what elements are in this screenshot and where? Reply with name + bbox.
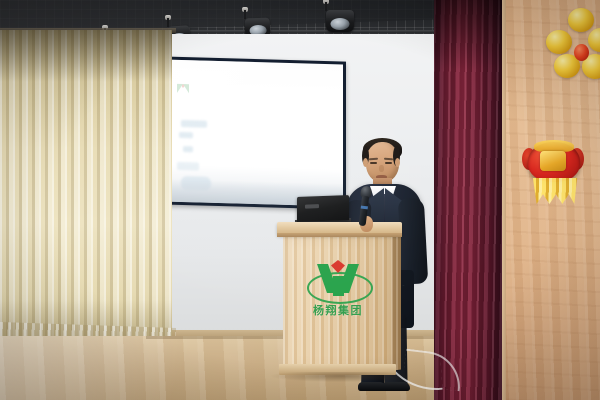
slide-text-line <box>181 120 207 128</box>
balloon-center <box>574 44 589 61</box>
nose <box>379 165 384 172</box>
lectern-top-edge <box>277 233 402 237</box>
conference-presentation-photo: 杨翔集团 <box>0 0 600 400</box>
curtain-top-shadow <box>0 30 172 82</box>
slide-logo-icon <box>177 84 189 96</box>
chinese-new-year-ornament <box>524 140 586 206</box>
laptop-lid <box>297 195 349 222</box>
lectern-front-panel: 杨翔集团 <box>283 236 392 370</box>
balloon-petal <box>546 30 572 54</box>
right-curtain-shadow <box>434 0 502 70</box>
ear <box>363 158 368 167</box>
projection-surface <box>163 59 343 206</box>
wooden-lectern: 杨翔集团 <box>281 222 398 378</box>
slide-text-line <box>183 146 193 152</box>
spotlight-lens <box>331 18 350 30</box>
balloon-petal <box>568 8 594 32</box>
slide-text-line <box>177 162 199 171</box>
lectern-floor-shadow <box>271 372 411 382</box>
ornament-gold-character <box>540 151 566 171</box>
company-logo: 杨翔集团 <box>305 260 371 320</box>
ear <box>395 158 400 167</box>
projection-screen <box>160 56 346 209</box>
spotlight-stem <box>167 18 169 27</box>
logo-stem <box>333 276 344 296</box>
gold-balloon-flower <box>548 4 600 90</box>
spotlight-stem <box>325 2 327 11</box>
ornament-tassels <box>532 178 578 204</box>
projector-glare <box>163 59 289 142</box>
spotlight-stem <box>244 10 246 19</box>
laptop-brand-logo <box>305 204 319 208</box>
spotlight-housing <box>326 10 354 32</box>
slide-text-line <box>179 132 193 138</box>
balloon-petal <box>588 28 600 52</box>
company-name-characters: 杨翔集团 <box>304 302 372 318</box>
